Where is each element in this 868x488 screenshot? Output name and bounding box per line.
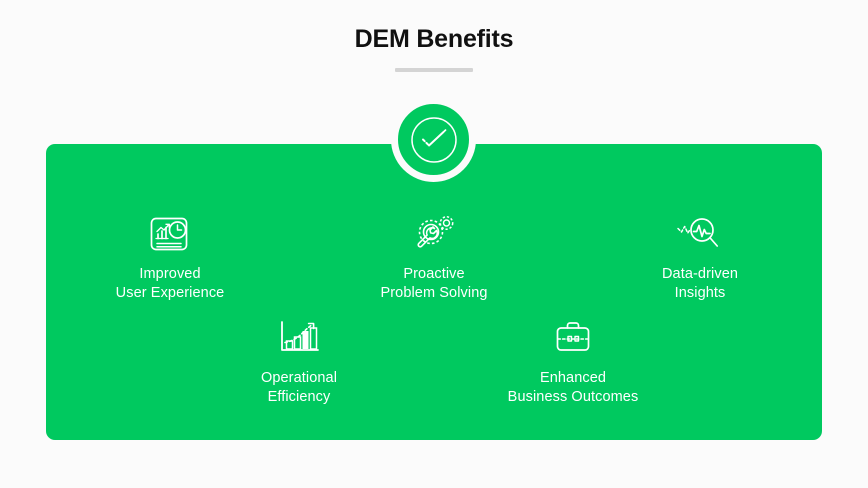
bar-chart-growth-icon [199, 316, 399, 360]
benefit-item-label: Improved User Experience [70, 265, 270, 303]
header: DEM Benefits [0, 22, 868, 72]
benefit-item-operational-efficiency: Operational Efficiency [199, 316, 399, 407]
magnifier-pulse-icon [600, 212, 800, 256]
dashboard-analytics-icon [70, 212, 270, 256]
dem-benefits-infographic: DEM Benefits [0, 0, 868, 488]
benefit-item-label: Enhanced Business Outcomes [473, 369, 673, 407]
benefit-item-label: Data-driven Insights [600, 265, 800, 303]
title-divider [395, 68, 473, 72]
benefit-item-label: Proactive Problem Solving [334, 265, 534, 303]
briefcase-icon [473, 316, 673, 360]
benefit-item-proactive-problem-solving: Proactive Problem Solving [334, 212, 534, 303]
check-badge [391, 97, 476, 182]
benefits-panel: Improved User Experience Proactive Probl… [46, 144, 822, 440]
wrench-gear-icon [334, 212, 534, 256]
check-circle-icon [408, 114, 459, 165]
benefit-item-data-driven-insights: Data-driven Insights [600, 212, 800, 303]
page-title: DEM Benefits [0, 22, 868, 56]
benefit-item-enhanced-business-outcomes: Enhanced Business Outcomes [473, 316, 673, 407]
benefit-item-improved-user-experience: Improved User Experience [70, 212, 270, 303]
benefit-item-label: Operational Efficiency [199, 369, 399, 407]
